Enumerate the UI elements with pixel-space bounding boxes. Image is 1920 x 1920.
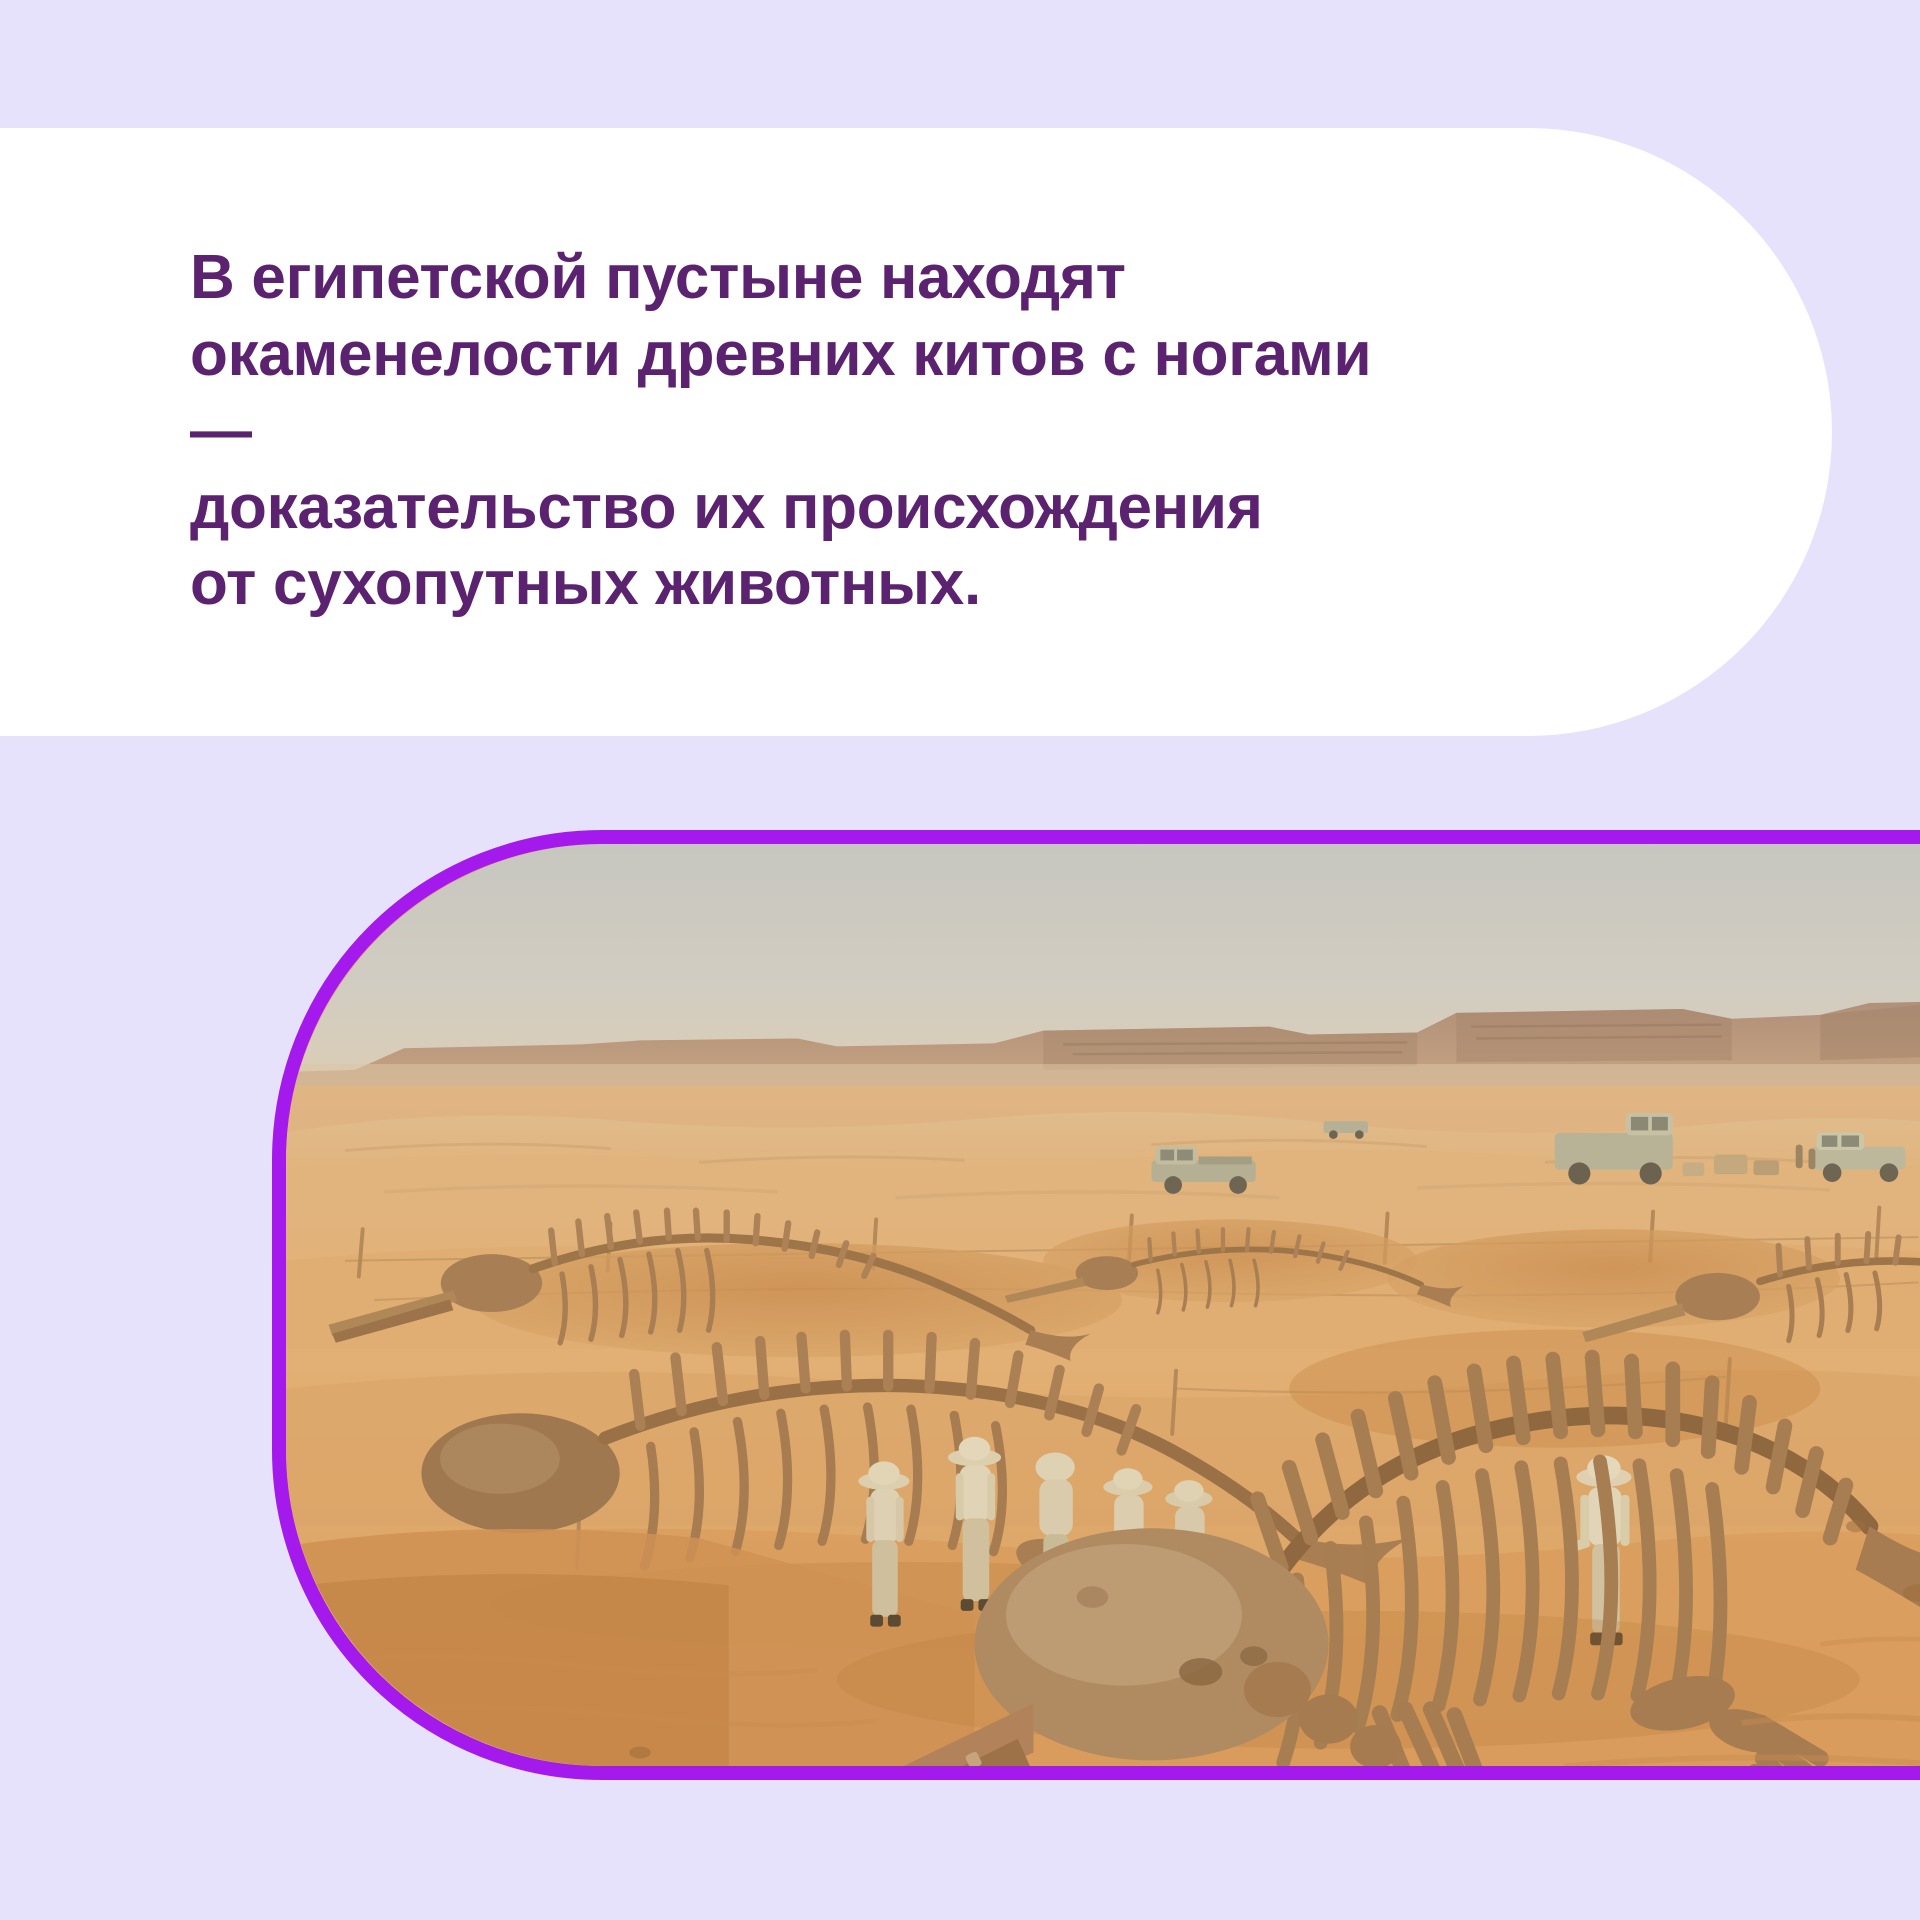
desert-excavation-illustration [286, 844, 1920, 1766]
photo-card [272, 830, 1920, 1780]
page-title: В египетской пустыне находят окаменелост… [190, 240, 1430, 623]
far-dunes [286, 1112, 1920, 1217]
photo-clip [286, 844, 1920, 1766]
text-card: В египетской пустыне находят окаменелост… [0, 128, 1832, 736]
